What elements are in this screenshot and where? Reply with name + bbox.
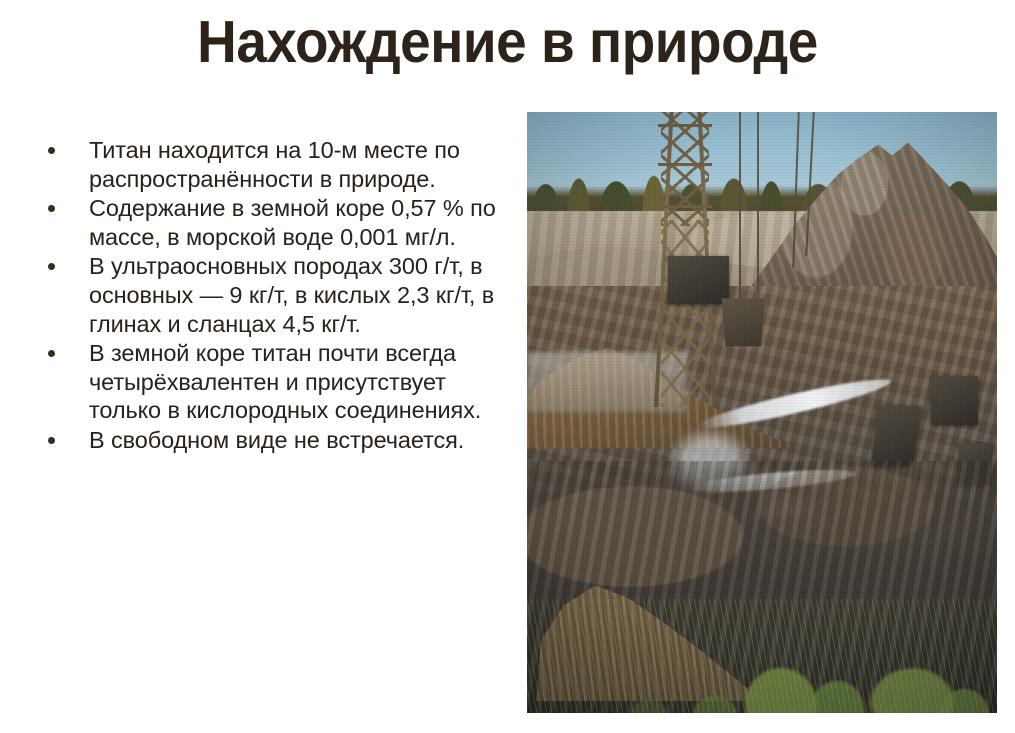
photo-canvas [527, 112, 997, 713]
slide-root: Нахождение в природе Титан находится на … [0, 0, 1015, 733]
list-item-text: В ультраосновных породах 300 г/т, в осно… [89, 252, 512, 338]
bullet-list: Титан находится на 10-м месте по распрос… [34, 136, 512, 456]
mining-machinery [931, 376, 978, 424]
dragline-bucket [720, 298, 767, 346]
derrick-crossbar [658, 163, 712, 166]
quarry-photo [527, 112, 997, 713]
list-item: Титан находится на 10-м месте по распрос… [34, 136, 512, 193]
mining-machinery [871, 406, 922, 466]
bullet-dot-icon [48, 205, 55, 212]
list-item-text: Титан находится на 10-м месте по распрос… [89, 136, 512, 193]
page-title: Нахождение в природе [36, 12, 980, 74]
list-item-text: Содержание в земной коре 0,57 % по массе… [89, 194, 512, 251]
bullet-dot-icon [48, 350, 55, 357]
foreground-grass [527, 599, 997, 713]
bullet-dot-icon [48, 263, 55, 270]
bullet-dot-icon [48, 147, 55, 154]
list-item: В свободном виде не встречается. [34, 426, 512, 455]
list-item-text: В земной коре титан почти всегда четырёх… [89, 339, 512, 425]
list-item: В ультраосновных породах 300 г/т, в осно… [34, 252, 512, 338]
list-item: В земной коре титан почти всегда четырёх… [34, 339, 512, 425]
hoist-cable [739, 112, 741, 298]
derrick-crossbar [658, 205, 712, 208]
derrick-lattice-lower [661, 220, 709, 406]
list-item-text: В свободном виде не встречается. [89, 426, 512, 455]
hoist-cable [757, 112, 759, 292]
list-item: Содержание в земной коре 0,57 % по массе… [34, 194, 512, 251]
derrick-crossbar [658, 124, 712, 127]
mining-machinery [668, 256, 729, 304]
bullet-dot-icon [48, 437, 55, 444]
